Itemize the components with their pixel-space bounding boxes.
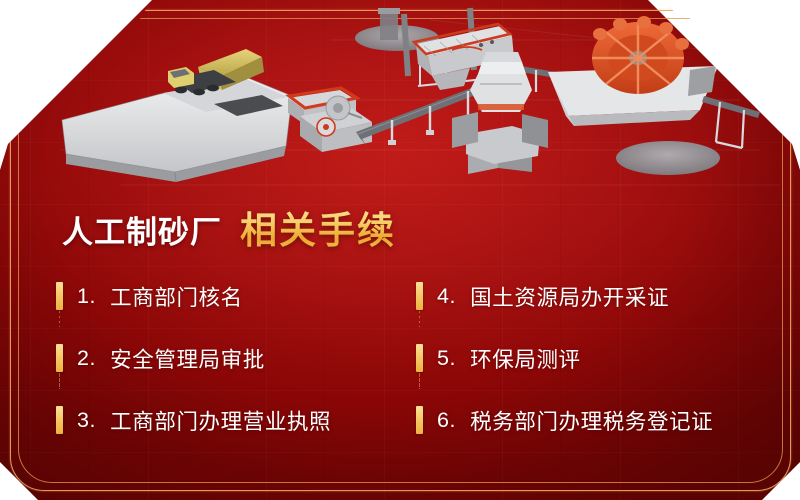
list-marker-bar [56, 344, 63, 372]
title-accent: 相关手续 [240, 200, 396, 254]
list-item-label: 税务部门办理税务登记证 [470, 405, 713, 436]
list-marker-bar [56, 282, 63, 310]
list-item-number: 6. [437, 408, 456, 433]
list-marker-bar [416, 282, 423, 310]
stockpile-right [616, 141, 720, 175]
list-item-label: 工商部门核名 [110, 281, 243, 312]
list-item-number: 3. [77, 408, 96, 433]
title-primary: 人工制砂厂 [62, 207, 222, 252]
list-item-label: 工商部门办理营业执照 [110, 405, 331, 436]
procedure-list: 1. 工商部门核名 4. 国土资源局办开采证 2. 安全管理局审批 5. 环保局… [56, 265, 756, 460]
list-item[interactable]: 4. 国土资源局办开采证 [416, 265, 756, 327]
belt-conveyor-discharge [702, 96, 760, 148]
list-item-number: 2. [77, 346, 96, 371]
card-title: 人工制砂厂 相关手续 [62, 200, 396, 254]
list-item-number: 1. [77, 284, 96, 309]
list-item-number: 4. [437, 284, 456, 309]
list-marker-bar [416, 344, 423, 372]
belt-conveyor-stacker [378, 8, 400, 40]
info-card: 人工制砂厂 相关手续 1. 工商部门核名 4. 国土资源局办开采证 2. 安全管… [0, 0, 800, 500]
list-item-number: 5. [437, 346, 456, 371]
list-item-label: 安全管理局审批 [110, 343, 265, 374]
list-marker-bar [416, 406, 423, 434]
list-item[interactable]: 1. 工商部门核名 [56, 265, 416, 327]
list-item-label: 国土资源局办开采证 [470, 281, 669, 312]
list-item[interactable]: 6. 税务部门办理税务登记证 [416, 389, 756, 451]
list-item[interactable]: 3. 工商部门办理营业执照 [56, 389, 416, 451]
list-item[interactable]: 2. 安全管理局审批 [56, 327, 416, 389]
list-marker-bar [56, 406, 63, 434]
raw-material-hopper-platform [62, 78, 292, 182]
list-item-label: 环保局测评 [470, 343, 581, 374]
list-item[interactable]: 5. 环保局测评 [416, 327, 756, 389]
